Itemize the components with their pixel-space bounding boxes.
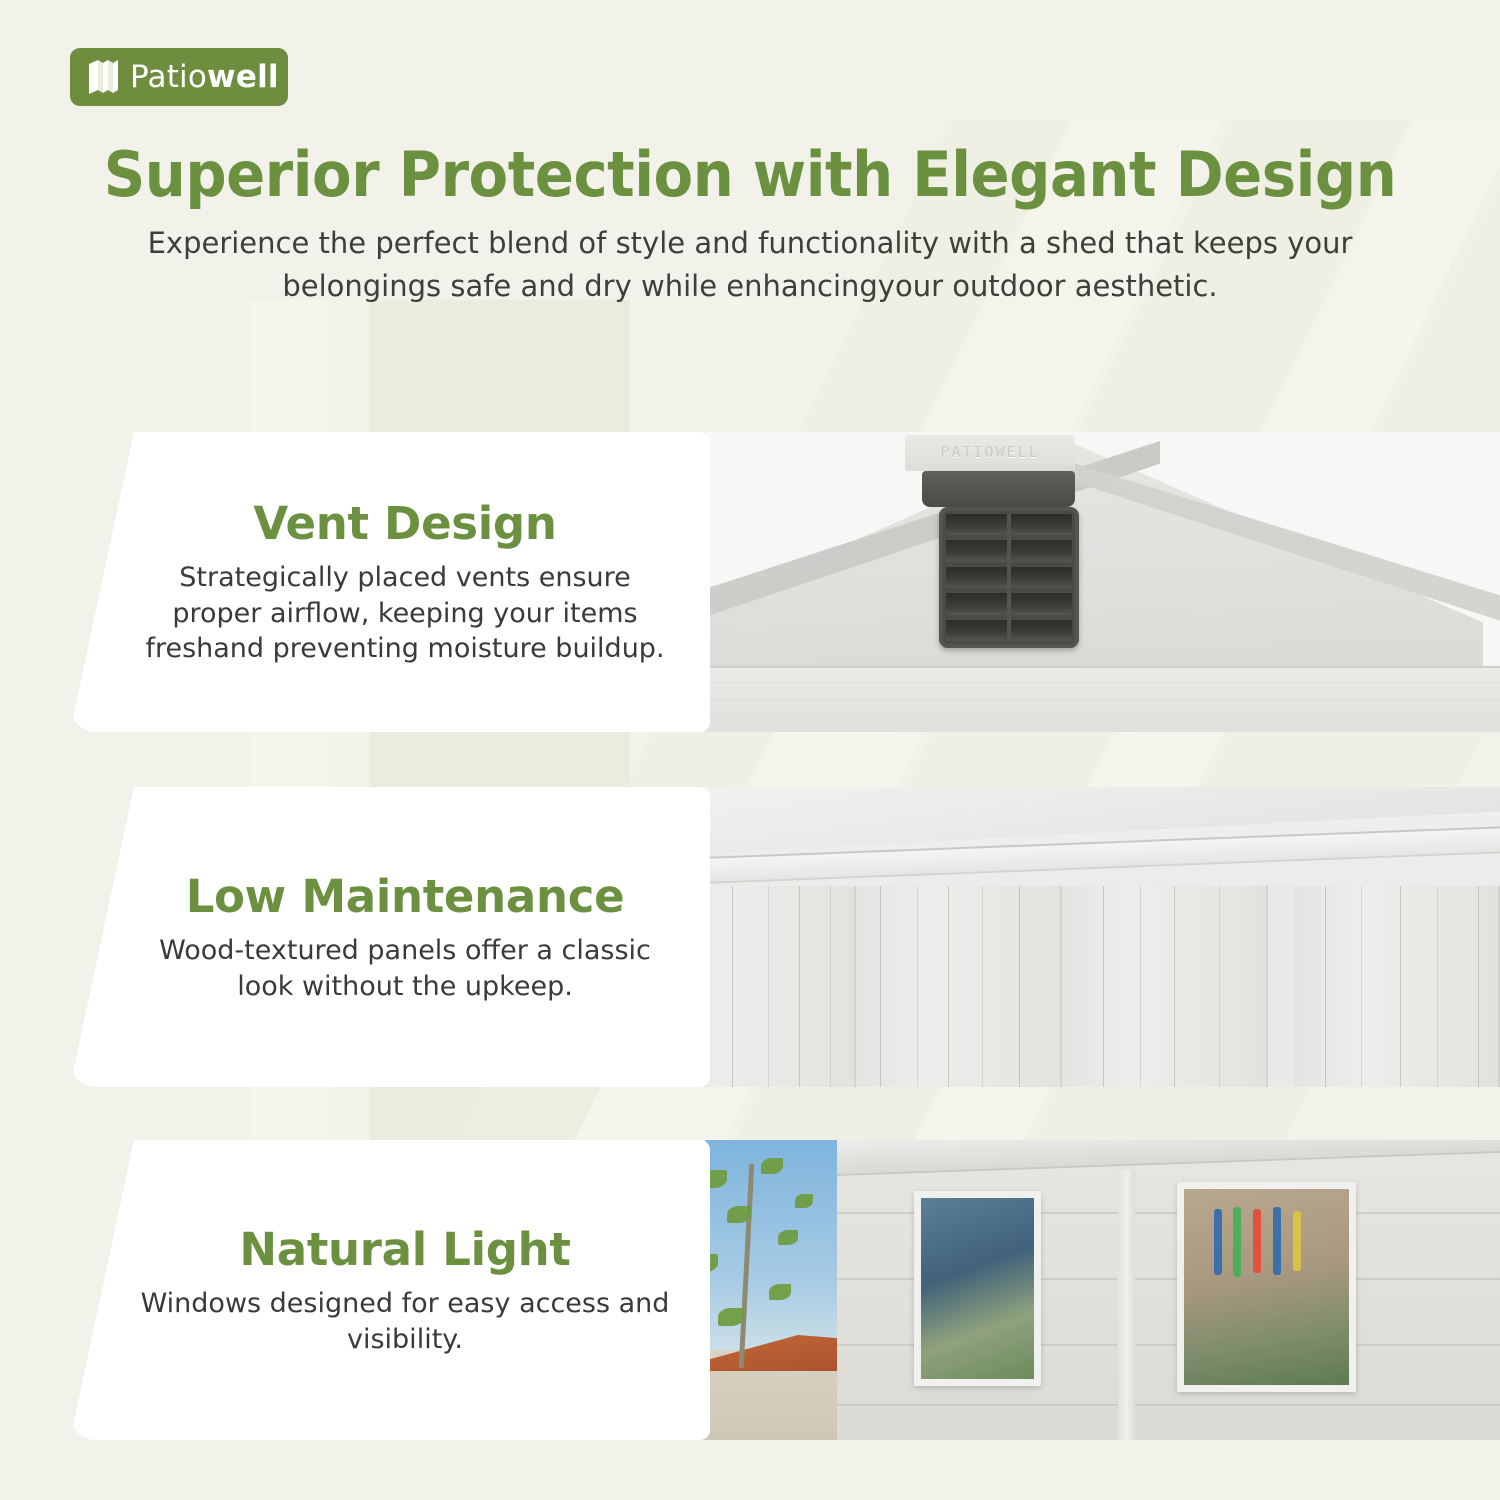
feature-card-natural-light: Natural Light Windows designed for easy … bbox=[70, 1140, 710, 1440]
feature-description: Windows designed for easy access and vis… bbox=[140, 1286, 670, 1358]
brand-wordmark: Patiowell bbox=[130, 59, 279, 95]
brand-logo[interactable]: Patiowell bbox=[70, 48, 288, 106]
shed-window-left bbox=[914, 1191, 1042, 1386]
brand-name-bold: well bbox=[207, 59, 279, 95]
shed-window-right bbox=[1177, 1182, 1356, 1392]
feature-card-vent-design: Vent Design Strategically placed vents e… bbox=[70, 432, 710, 732]
brand-name-light: Patio bbox=[130, 59, 207, 95]
shed-windows-photo bbox=[650, 1140, 1500, 1440]
photo-emboss-text: PATIOWELL bbox=[909, 443, 1071, 461]
feature-title: Vent Design bbox=[253, 497, 556, 550]
feature-row-natural-light: Natural Light Windows designed for easy … bbox=[0, 1140, 1500, 1440]
page-subline: Experience the perfect blend of style an… bbox=[110, 222, 1390, 307]
feature-description: Strategically placed vents ensure proper… bbox=[140, 560, 670, 668]
feature-card-low-maintenance: Low Maintenance Wood-textured panels off… bbox=[70, 787, 710, 1087]
louvered-vent-icon bbox=[939, 507, 1079, 648]
feature-title: Low Maintenance bbox=[186, 870, 625, 923]
feature-row-low-maintenance: Low Maintenance Wood-textured panels off… bbox=[0, 787, 1500, 1087]
shed-gable-vent-photo: PATIOWELL bbox=[650, 432, 1500, 732]
feature-title: Natural Light bbox=[239, 1223, 570, 1276]
feature-description: Wood-textured panels offer a classic loo… bbox=[140, 933, 670, 1005]
wood-textured-panel-photo bbox=[650, 787, 1500, 1087]
stacked-panels-icon bbox=[85, 57, 121, 97]
feature-row-vent-design: PATIOWELL Vent Design Strategically plac… bbox=[0, 432, 1500, 732]
page-headline: Superior Protection with Elegant Design bbox=[53, 138, 1448, 211]
